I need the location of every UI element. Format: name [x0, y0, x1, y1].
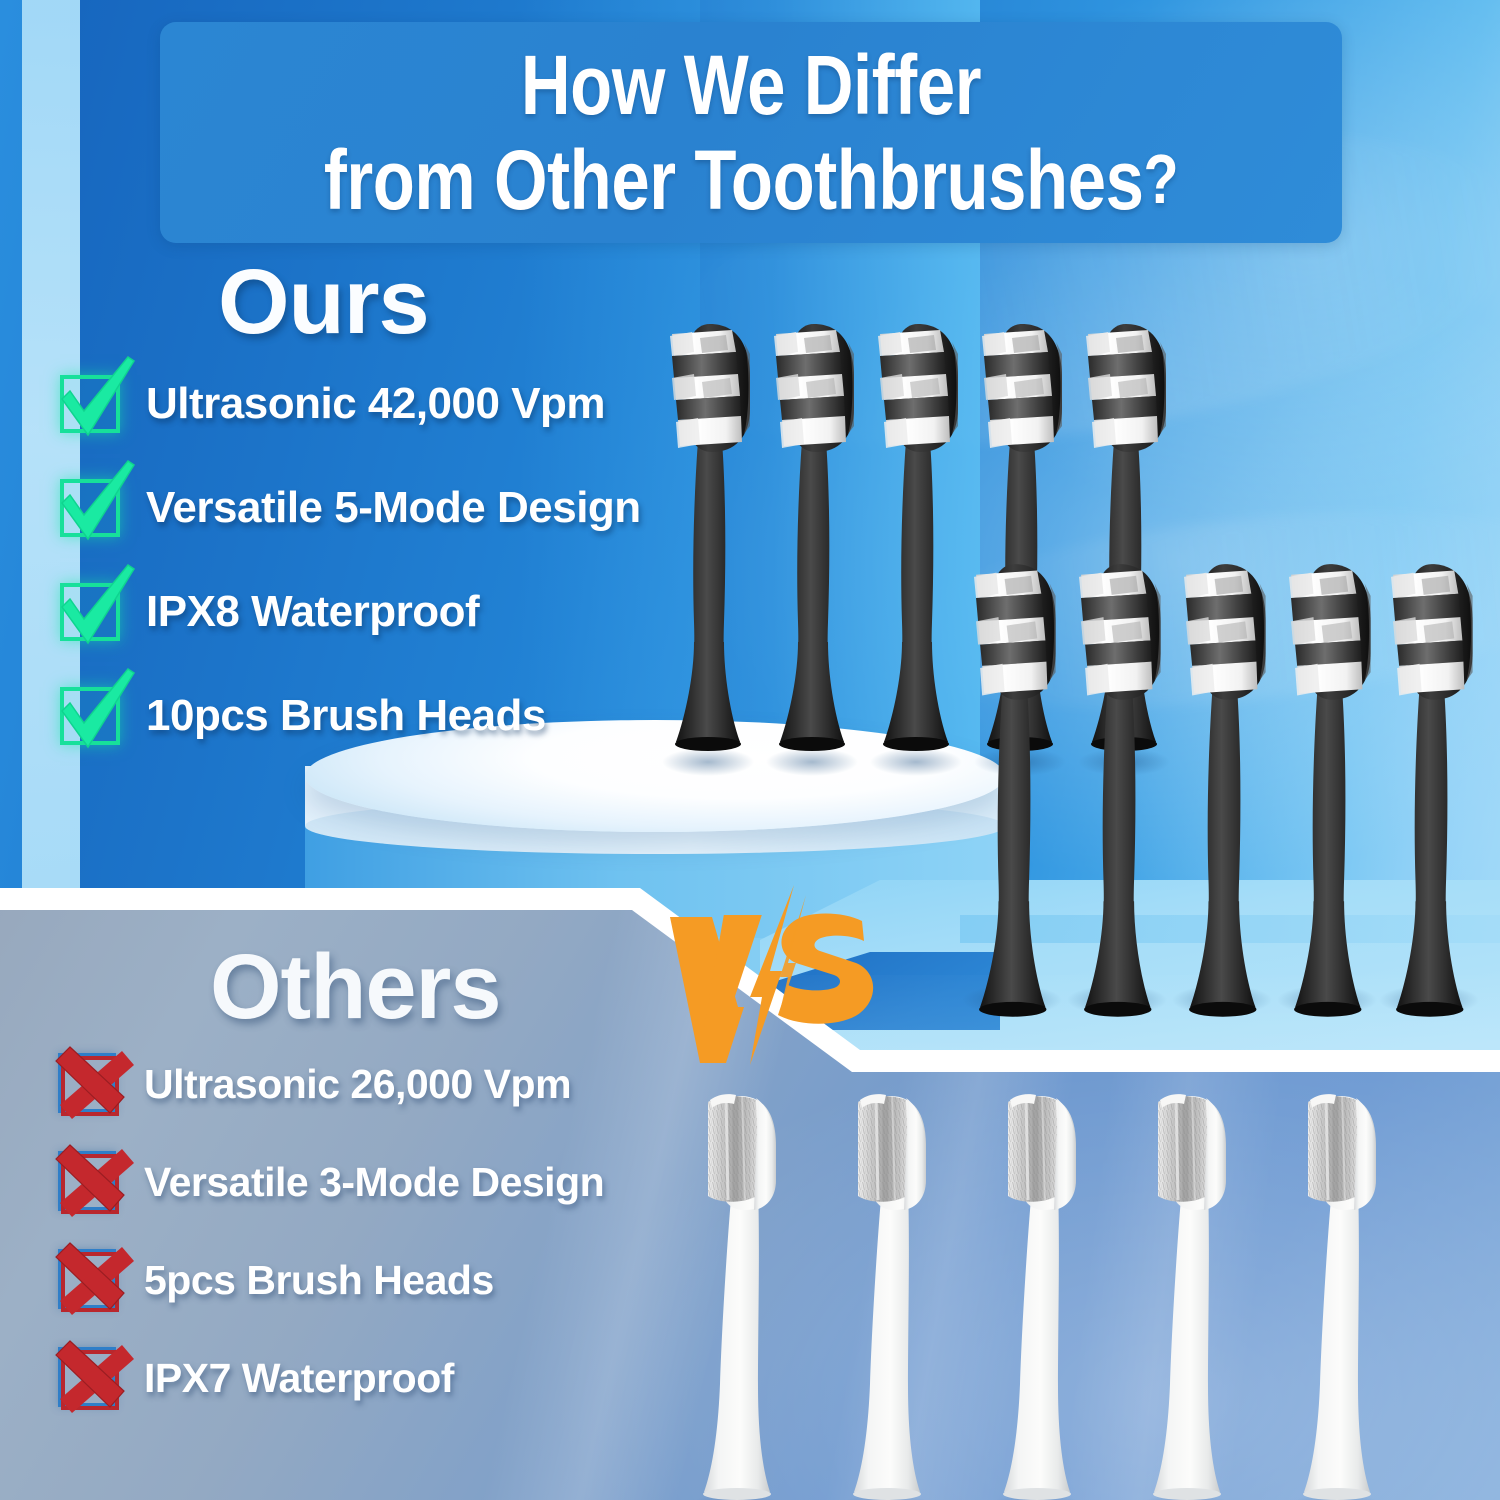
- x-icon: [46, 1139, 138, 1231]
- check-icon: [48, 667, 140, 759]
- check-mark-0: [48, 371, 124, 437]
- vs-badge: VS: [666, 885, 896, 1065]
- list-item-label: 10pcs Brush Heads: [146, 691, 546, 741]
- infographic-canvas: How We Differ from Other Toothbrushes? O…: [0, 0, 1500, 1500]
- list-item: Versatile 3-Mode Design: [48, 1133, 728, 1231]
- others-heading: Others: [210, 935, 501, 1040]
- x-mark-0: [48, 1051, 124, 1117]
- list-item-label: Versatile 5-Mode Design: [146, 483, 641, 533]
- list-item: IPX7 Waterproof: [48, 1329, 728, 1427]
- check-mark-3: [48, 683, 124, 749]
- check-icon: [48, 355, 140, 447]
- list-item-label: 5pcs Brush Heads: [144, 1257, 494, 1304]
- check-icon: [48, 459, 140, 551]
- list-item: Ultrasonic 26,000 Vpm: [48, 1035, 728, 1133]
- ours-heading: Ours: [218, 250, 429, 355]
- x-icon: [46, 1041, 138, 1133]
- check-mark-1: [48, 475, 124, 541]
- list-item-label: Ultrasonic 42,000 Vpm: [146, 379, 605, 429]
- list-item: 10pcs Brush Heads: [48, 664, 708, 768]
- others-feature-list: Ultrasonic 26,000 Vpm Versatile 3-Mode D…: [48, 1035, 728, 1427]
- title-line-2: from Other Toothbrushes: [324, 133, 1144, 227]
- page-title: How We Differ from Other Toothbrushes?: [266, 38, 1235, 227]
- list-item: Ultrasonic 42,000 Vpm: [48, 352, 708, 456]
- list-item-label: IPX8 Waterproof: [146, 587, 479, 637]
- ours-feature-list: Ultrasonic 42,000 Vpm Versatile 5-Mode D…: [48, 352, 708, 768]
- title-panel: How We Differ from Other Toothbrushes?: [160, 22, 1342, 243]
- list-item: IPX8 Waterproof: [48, 560, 708, 664]
- list-item-label: IPX7 Waterproof: [144, 1355, 454, 1402]
- list-item: Versatile 5-Mode Design: [48, 456, 708, 560]
- x-mark-2: [48, 1247, 124, 1313]
- x-icon: [46, 1335, 138, 1427]
- x-mark-1: [48, 1149, 124, 1215]
- title-question-mark: ?: [1144, 140, 1179, 218]
- x-mark-3: [48, 1345, 124, 1411]
- list-item-label: Ultrasonic 26,000 Vpm: [144, 1061, 571, 1108]
- white-brush-heads-group: [690, 1080, 1450, 1500]
- check-mark-2: [48, 579, 124, 645]
- list-item-label: Versatile 3-Mode Design: [144, 1159, 604, 1206]
- list-item: 5pcs Brush Heads: [48, 1231, 728, 1329]
- title-line-2-wrap: from Other Toothbrushes?: [266, 132, 1235, 227]
- title-line-1: How We Differ: [521, 38, 981, 132]
- x-icon: [46, 1237, 138, 1329]
- check-icon: [48, 563, 140, 655]
